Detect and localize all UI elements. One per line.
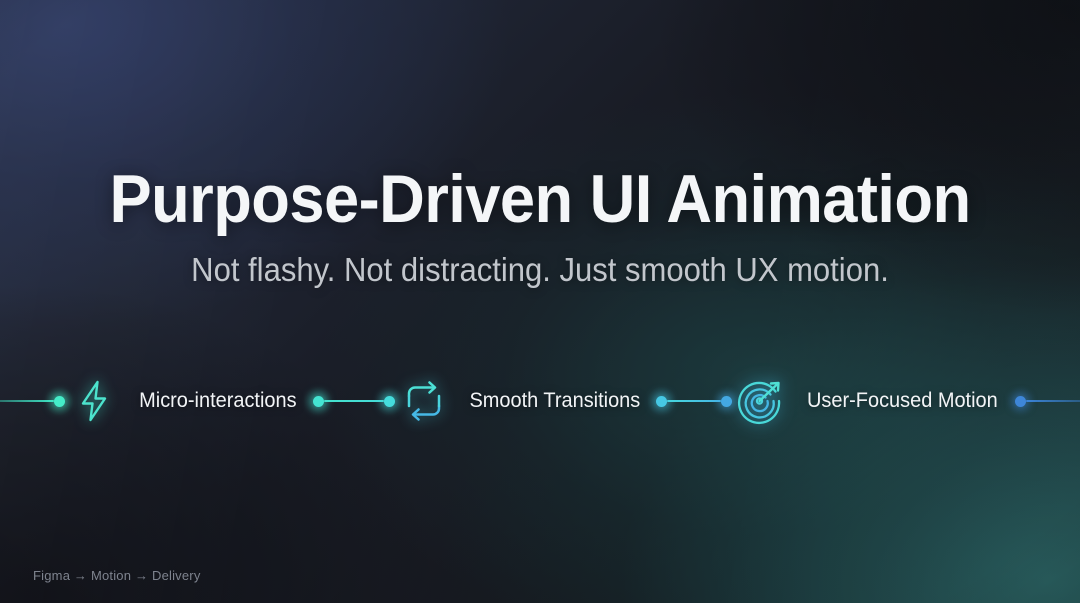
background-vignette xyxy=(0,0,1080,603)
timeline-node-dot-1 xyxy=(54,396,65,407)
timeline-node-dot-3 xyxy=(384,396,395,407)
background-teal-glow-soft xyxy=(0,0,1080,603)
timeline-node-dot-4 xyxy=(656,396,667,407)
background-sheen xyxy=(0,0,1080,603)
timeline-node-dot-5 xyxy=(721,396,732,407)
headline-block: Purpose-Driven UI Animation Not flashy. … xyxy=(0,164,1080,289)
presentation-slide: Purpose-Driven UI Animation Not flashy. … xyxy=(0,0,1080,603)
timeline-step-label-3: User-Focused Motion xyxy=(796,389,1010,413)
timeline-node-dot-2 xyxy=(313,396,324,407)
timeline-step-label-2: Smooth Transitions xyxy=(458,389,652,413)
footer-breadcrumb: Figma → Motion → Delivery xyxy=(33,568,201,583)
lightning-bolt-icon xyxy=(71,378,117,424)
background-base-gradient xyxy=(0,0,1080,603)
background-navy-glow xyxy=(0,0,1080,603)
background-teal-glow xyxy=(0,0,1080,603)
process-timeline: Micro-interactions Smooth Transitions xyxy=(0,371,1080,431)
background-dark-corners xyxy=(0,0,1080,603)
target-arrow-icon xyxy=(738,378,784,424)
page-title: Purpose-Driven UI Animation xyxy=(38,164,1042,235)
repeat-loop-icon xyxy=(401,378,447,424)
timeline-step-label-1: Micro-interactions xyxy=(128,389,308,413)
page-subtitle: Not flashy. Not distracting. Just smooth… xyxy=(32,251,1047,289)
timeline-node-dot-6 xyxy=(1015,396,1026,407)
